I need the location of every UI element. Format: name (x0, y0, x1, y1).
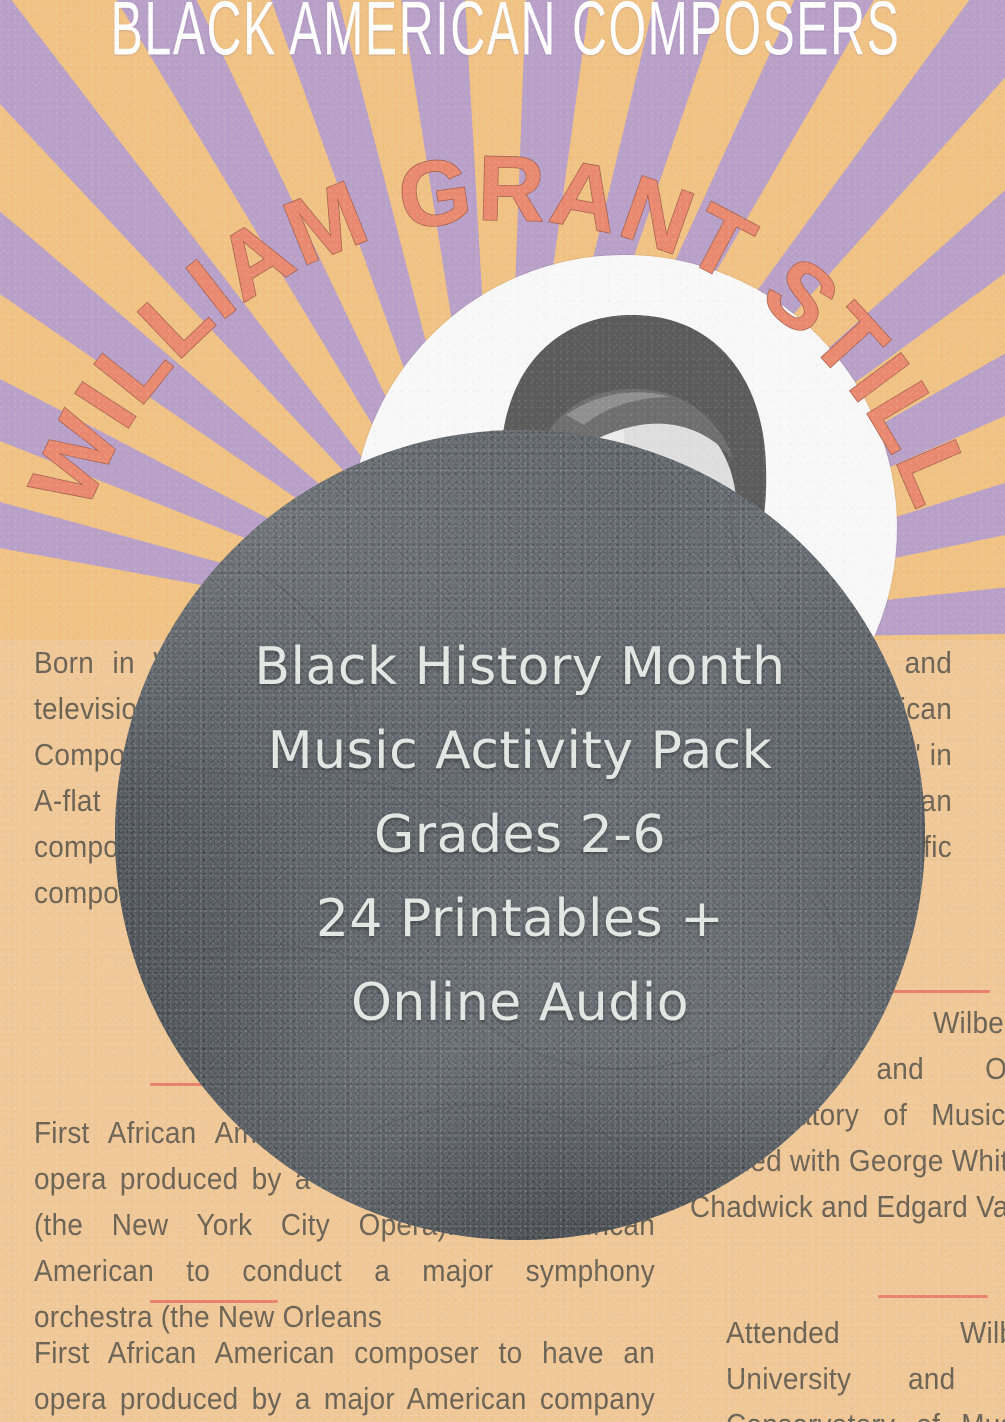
education-fact-bottom: Attended Wilberforce University and Ober… (726, 1310, 1005, 1422)
opera-firsts-fact-repeat: First African American composer to have … (34, 1330, 655, 1422)
section-divider-right-bottom (878, 1295, 988, 1298)
page-title: BLACK AMERICAN COMPOSERS (111, 0, 895, 73)
poster-canvas: BLACK AMERICAN COMPOSERS (0, 0, 1005, 1422)
overlay-badge-circle (115, 430, 925, 1240)
overlay-crack-lines (115, 430, 925, 1240)
section-divider-left-bottom (150, 1300, 278, 1303)
